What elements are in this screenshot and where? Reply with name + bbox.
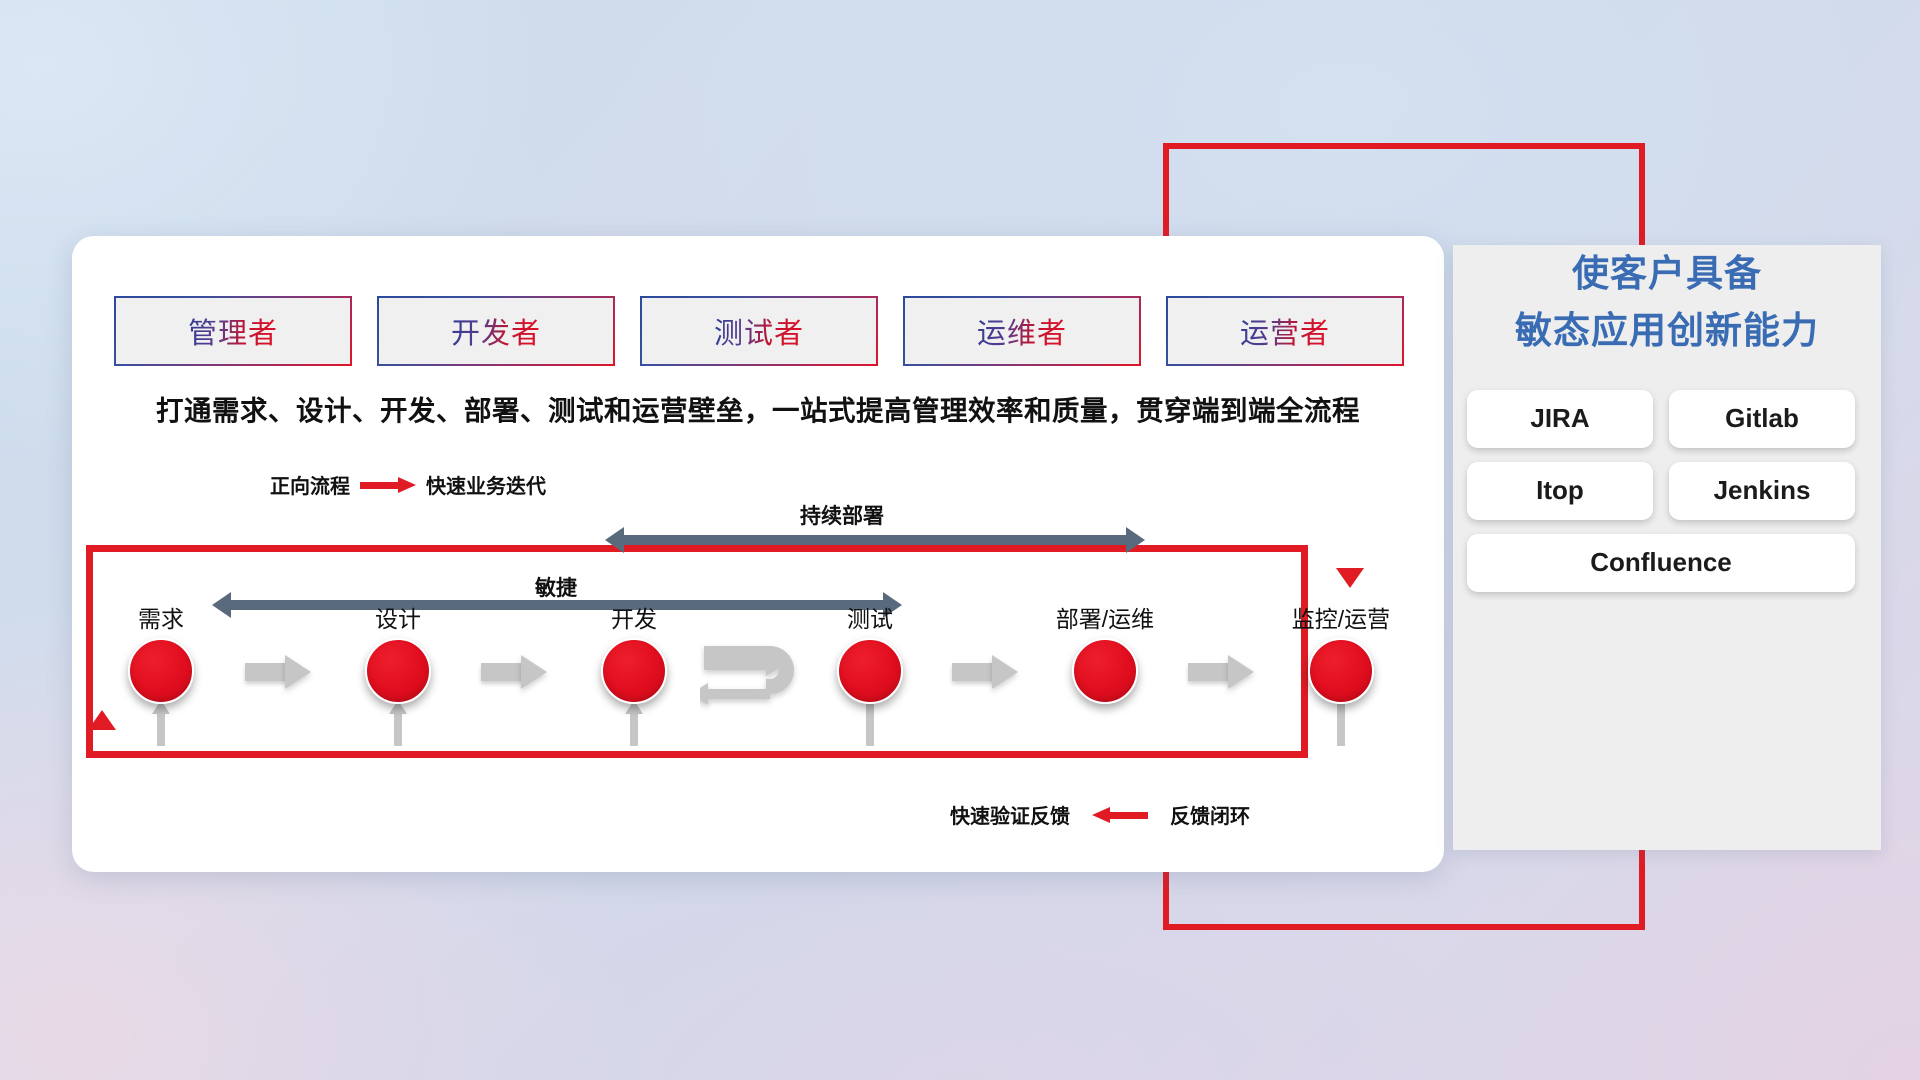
stage-dot (365, 638, 431, 704)
panel-title-line2: 敏态应用创新能力 (1453, 302, 1881, 359)
loop-arrow-down-icon (1336, 568, 1364, 588)
role-label: 测试者 (714, 310, 804, 352)
stage-row: 需求 设计 开发 测试 部署/运维 监控/运营 (0, 600, 1920, 750)
headline-text: 打通需求、设计、开发、部署、测试和运营壁垒，一站式提高管理效率和质量，贯穿端到端… (72, 388, 1444, 428)
panel-title-line1: 使客户具备 (1453, 245, 1881, 302)
role-box-tester[interactable]: 测试者 (640, 296, 878, 366)
role-label: 运营者 (1240, 310, 1330, 352)
tool-itop[interactable]: Itop (1467, 462, 1653, 520)
stage-requirement[interactable]: 需求 (81, 600, 241, 704)
tool-jenkins[interactable]: Jenkins (1669, 462, 1855, 520)
continuous-deploy-label: 持续部署 (800, 500, 884, 530)
stage-design[interactable]: 设计 (318, 600, 478, 704)
role-box-manager[interactable]: 管理者 (114, 296, 352, 366)
stage-dot (1072, 638, 1138, 704)
outcome-panel: 使客户具备 敏态应用创新能力 JIRA Gitlab Itop Jenkins … (1453, 245, 1881, 850)
stage-label: 设计 (318, 600, 478, 634)
role-label: 运维者 (977, 310, 1067, 352)
stage-dot (1308, 638, 1374, 704)
stage-label: 需求 (81, 600, 241, 634)
stage-monitor-operations[interactable]: 监控/运营 (1261, 600, 1421, 704)
feedback-legend: 快速验证反馈 反馈闭环 (950, 800, 1250, 829)
stage-label: 部署/运维 (1025, 600, 1185, 634)
tool-list: JIRA Gitlab Itop Jenkins Confluence (1453, 390, 1881, 592)
red-left-arrow-icon (1092, 809, 1148, 821)
role-box-developer[interactable]: 开发者 (377, 296, 615, 366)
stage-label: 测试 (790, 600, 950, 634)
tool-confluence[interactable]: Confluence (1467, 534, 1855, 592)
continuous-deploy-arrow-icon (605, 527, 1145, 553)
red-right-arrow-icon (360, 479, 416, 491)
role-box-row: 管理者 开发者 测试者 运维者 运营者 (114, 296, 1404, 368)
role-label: 开发者 (451, 310, 541, 352)
stage-label: 监控/运营 (1261, 600, 1421, 634)
stage-test[interactable]: 测试 (790, 600, 950, 704)
feedback-result-label: 快速验证反馈 (950, 800, 1070, 829)
role-box-operations[interactable]: 运营者 (1166, 296, 1404, 366)
tool-gitlab[interactable]: Gitlab (1669, 390, 1855, 448)
stage-label: 开发 (554, 600, 714, 634)
stage-develop[interactable]: 开发 (554, 600, 714, 704)
tool-jira[interactable]: JIRA (1467, 390, 1653, 448)
forward-flow-result: 快速业务迭代 (426, 470, 546, 499)
role-box-ops[interactable]: 运维者 (903, 296, 1141, 366)
role-label: 管理者 (188, 310, 278, 352)
stage-deploy-ops[interactable]: 部署/运维 (1025, 600, 1185, 704)
stage-dot (837, 638, 903, 704)
stage-dot (128, 638, 194, 704)
stage-dot (601, 638, 667, 704)
feedback-loop-label: 反馈闭环 (1170, 800, 1250, 829)
forward-flow-legend: 正向流程 快速业务迭代 (270, 470, 546, 499)
forward-flow-label: 正向流程 (270, 470, 350, 499)
